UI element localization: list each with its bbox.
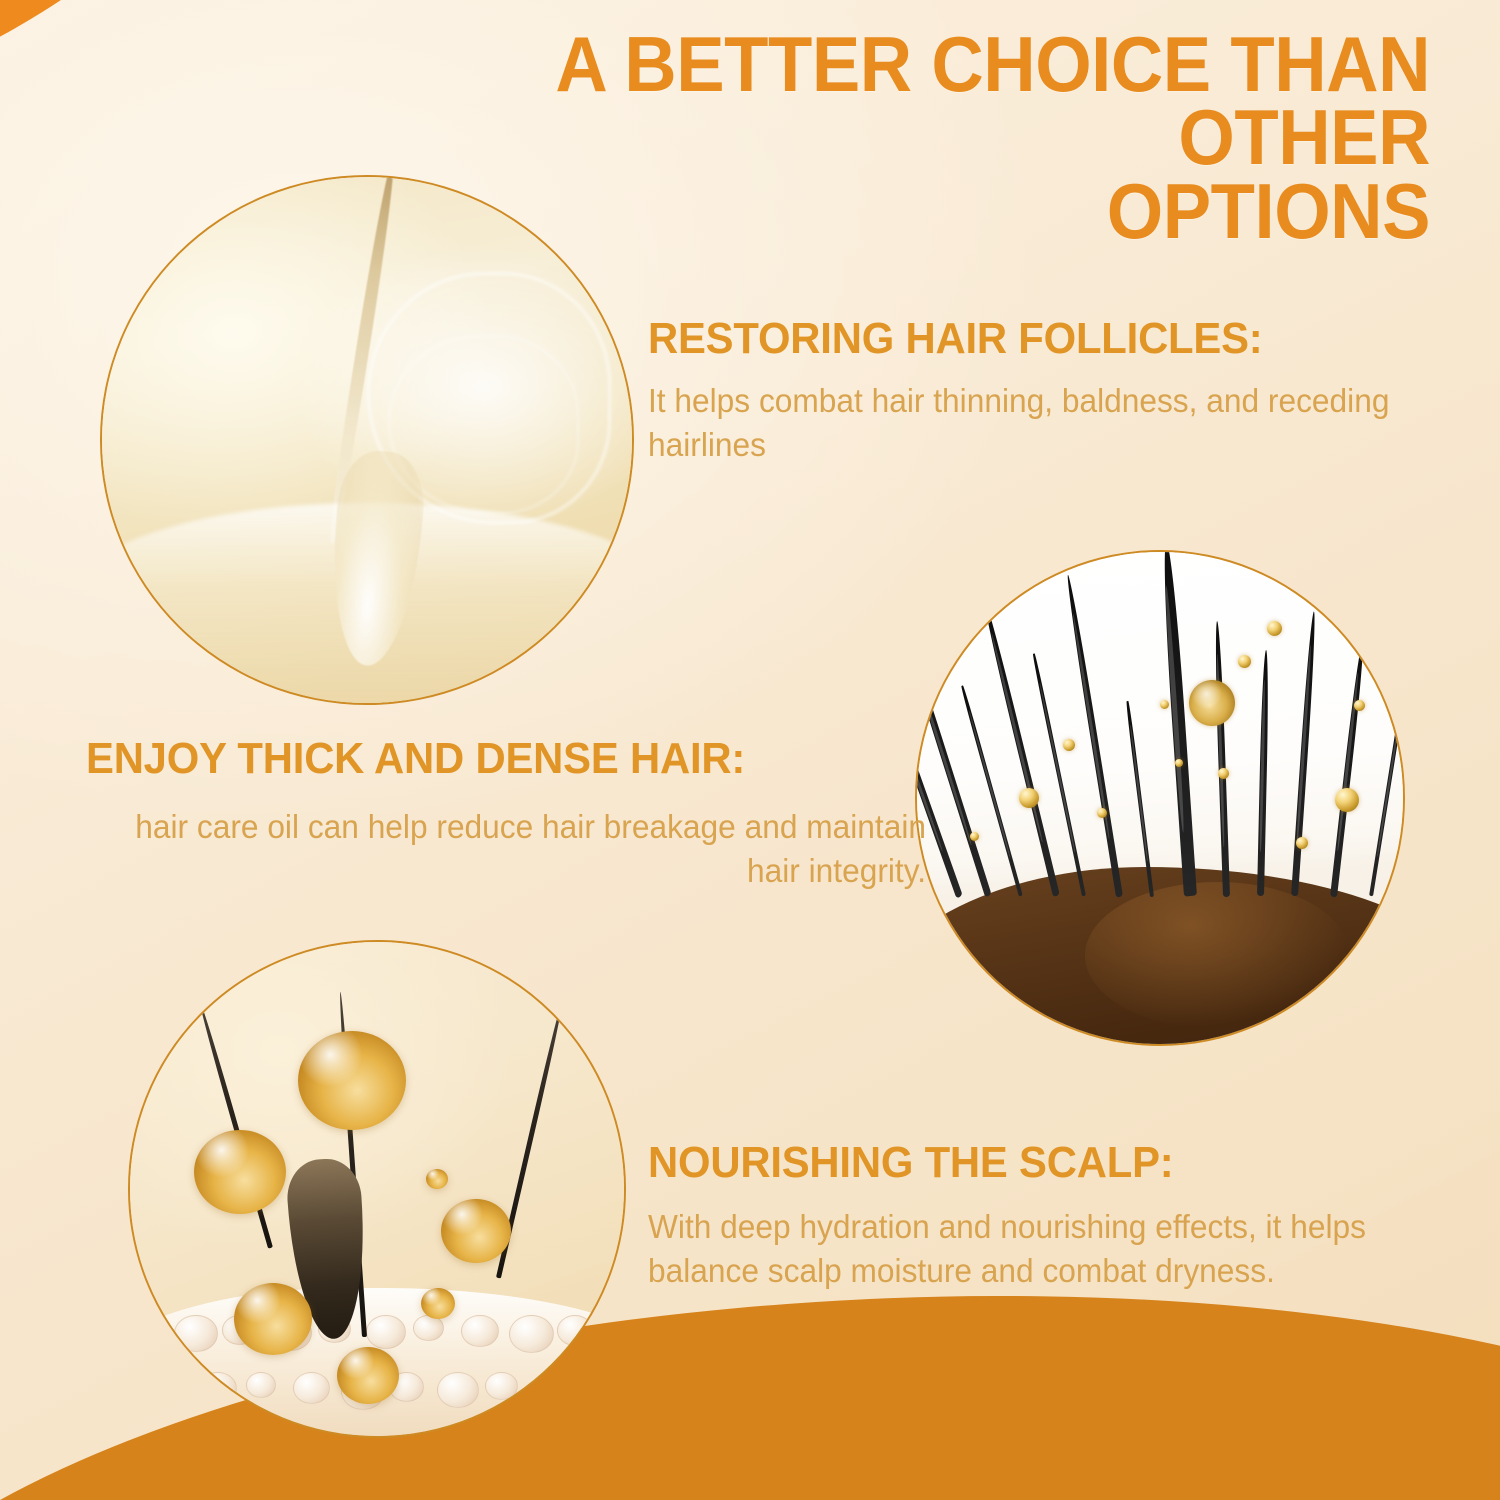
skin-cell <box>509 1315 554 1354</box>
nourishing-oil-image <box>128 940 626 1438</box>
gold-oil-bead <box>1296 837 1308 849</box>
gold-oil-bead <box>1160 700 1169 709</box>
feature-body-follicles: It helps combat hair thinning, baldness,… <box>648 379 1406 467</box>
oil-droplet-illustration <box>130 942 624 1436</box>
skin-surface-shape <box>100 503 634 705</box>
hair-strand <box>1032 653 1086 897</box>
skin-cell <box>485 1372 518 1400</box>
oil-swirl-shape-secondary <box>388 335 579 514</box>
feature-block-dense: ENJOY THICK AND DENSE HAIR: hair care oi… <box>86 736 926 893</box>
skin-cell <box>605 1315 626 1352</box>
feature-heading-scalp: NOURISHING THE SCALP: <box>648 1140 1418 1187</box>
skin-cell <box>128 1315 164 1347</box>
promo-poster: A BETTER CHOICE THAN OTHER OPTIONS RESTO… <box>0 0 1500 1500</box>
gold-oil-bead <box>1354 700 1365 711</box>
gold-oil-bead <box>1335 788 1359 812</box>
gold-oil-bead <box>1218 768 1229 779</box>
follicle-illustration <box>102 177 632 703</box>
title-line-2: OPTIONS <box>1107 167 1430 255</box>
skin-cell <box>246 1372 276 1398</box>
oil-droplet <box>194 1130 286 1215</box>
oil-droplet <box>441 1199 511 1263</box>
skin-cell <box>366 1315 406 1349</box>
gold-oil-bead <box>1175 759 1183 767</box>
feature-body-dense: hair care oil can help reduce hair break… <box>120 805 926 893</box>
gold-oil-bead <box>970 832 979 841</box>
gold-oil-bead <box>1063 739 1075 751</box>
skin-cell <box>557 1315 593 1346</box>
feature-heading-dense: ENJOY THICK AND DENSE HAIR: <box>86 736 884 783</box>
skin-cell <box>437 1372 479 1408</box>
skin-cell <box>580 1372 611 1399</box>
gold-oil-bead <box>1097 808 1107 818</box>
oil-droplet <box>426 1169 448 1189</box>
dense-hair-illustration <box>917 552 1403 1044</box>
hair-strand <box>1330 641 1366 897</box>
skin-cell <box>150 1372 182 1400</box>
top-left-swoosh-decoration <box>0 0 330 168</box>
hair-follicle-image <box>100 175 634 705</box>
gold-oil-bead <box>1189 680 1235 726</box>
skin-cell <box>198 1372 237 1406</box>
hair-strand <box>1257 650 1270 896</box>
oil-droplet <box>234 1283 312 1355</box>
hair-strand <box>1160 550 1197 897</box>
hair-strand <box>1291 611 1317 897</box>
skin-cell <box>128 1372 143 1407</box>
hair-strand <box>1214 621 1230 897</box>
hair-strand <box>1369 672 1405 897</box>
feature-block-follicles: RESTORING HAIR FOLLICLES: It helps comba… <box>648 316 1438 467</box>
feature-body-scalp: With deep hydration and nourishing effec… <box>648 1205 1426 1293</box>
skin-cell <box>174 1315 218 1353</box>
skin-cell <box>461 1315 499 1348</box>
skin-cell <box>532 1372 572 1406</box>
feature-block-scalp: NOURISHING THE SCALP: With deep hydratio… <box>648 1140 1458 1293</box>
oil-droplet <box>298 1031 406 1130</box>
gold-oil-bead <box>1267 621 1282 636</box>
feature-heading-follicles: RESTORING HAIR FOLLICLES: <box>648 316 1399 363</box>
title-line-1: A BETTER CHOICE THAN OTHER <box>555 20 1430 181</box>
dense-hair-image <box>915 550 1405 1046</box>
hair-strand <box>981 596 1060 897</box>
skin-cell <box>293 1372 330 1404</box>
gold-oil-bead <box>1238 655 1251 668</box>
